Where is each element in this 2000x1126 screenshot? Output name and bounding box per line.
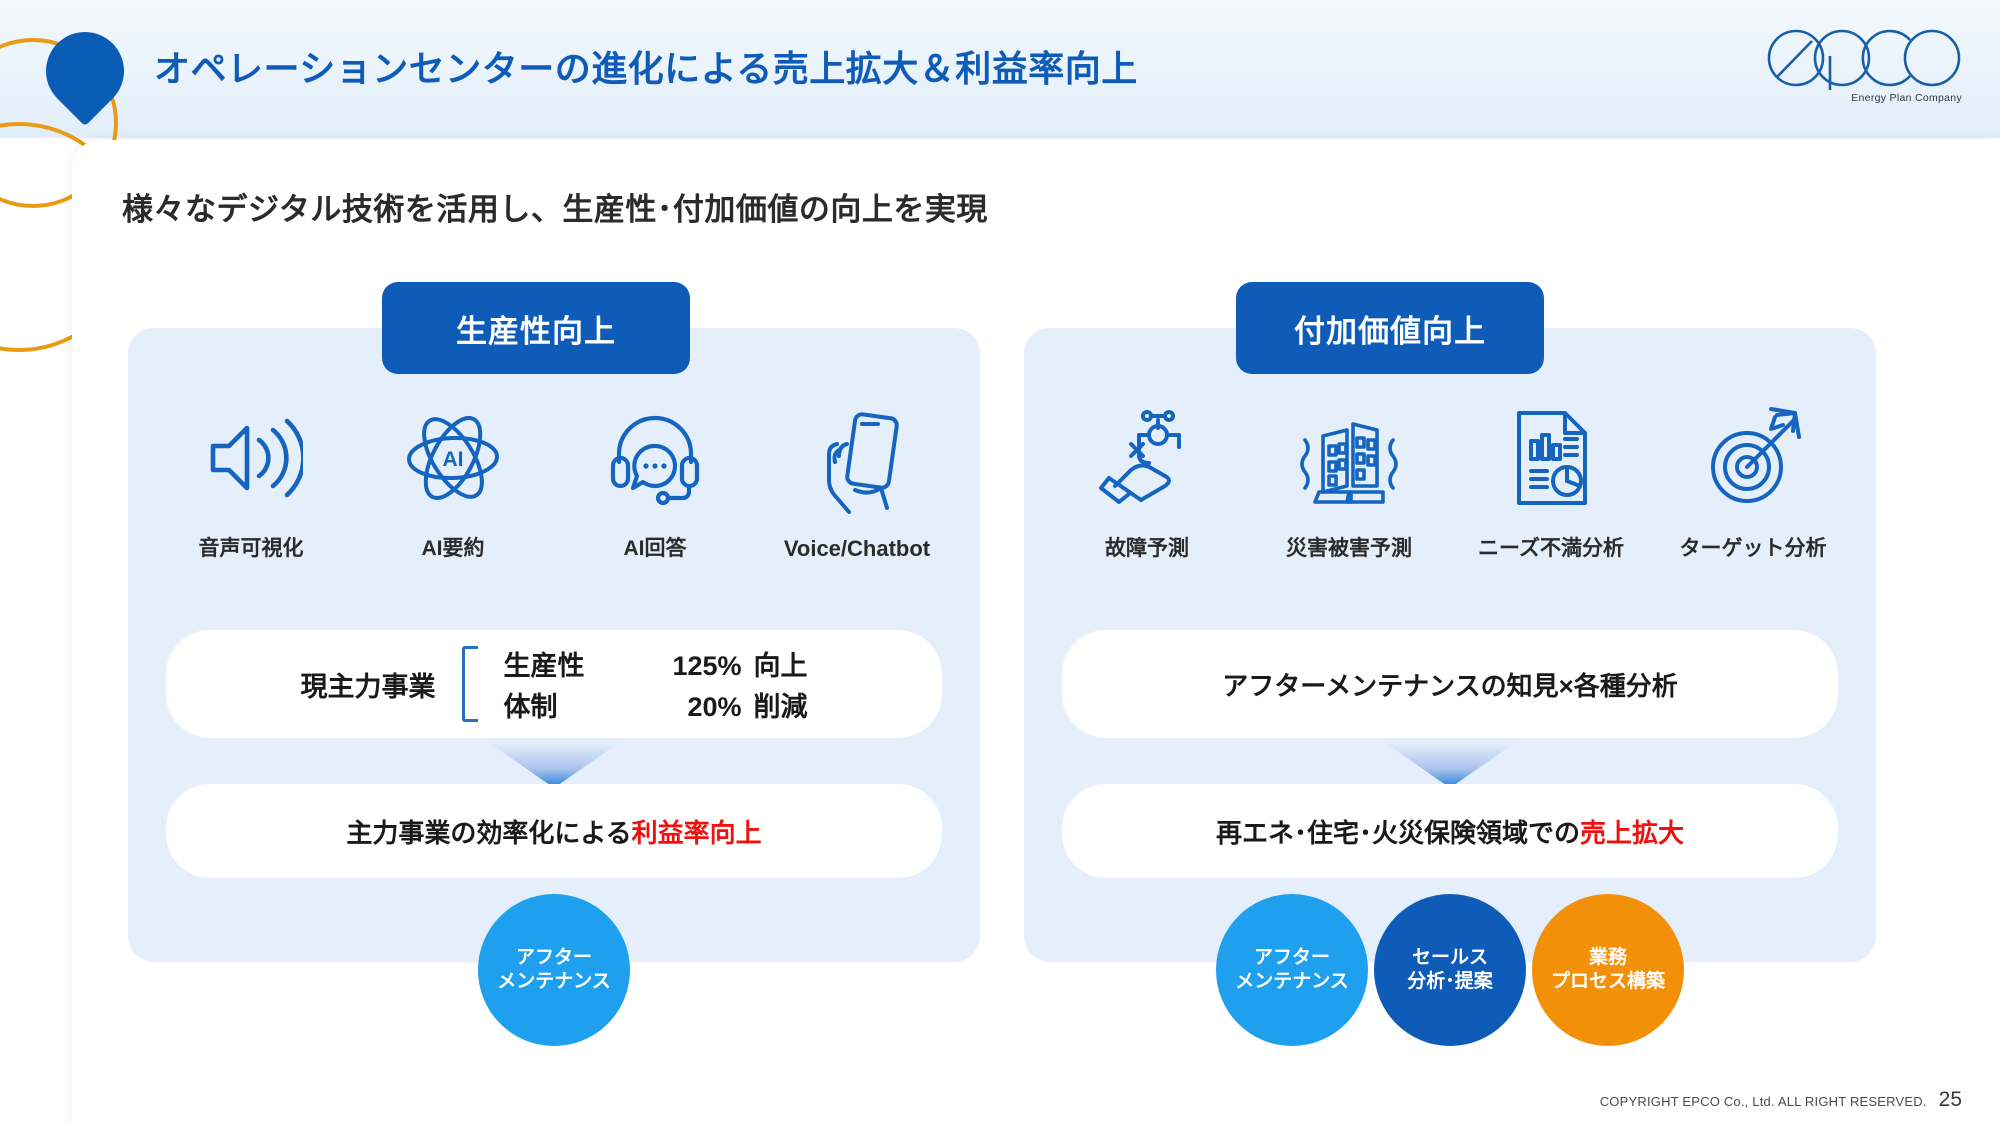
slide-root: オペレーションセンターの進化による売上拡大＆利益率向上 Energy Plan … <box>0 0 2000 1126</box>
icon-cell-failure-prediction[interactable]: 故障予測 <box>1049 404 1245 562</box>
footer: COPYRIGHT EPCO Co., Ltd. ALL RIGHT RESER… <box>1600 1088 1962 1112</box>
stat-pill-knowledge: アフターメンテナンスの知見×各種分析 <box>1062 630 1838 738</box>
circle-line2: 分析･提案 <box>1407 970 1493 994</box>
result-pill-profit: 主力事業の効率化による利益率向上 <box>166 784 942 878</box>
stat-text: アフターメンテナンスの知見×各種分析 <box>1222 666 1678 703</box>
panel-badge-productivity: 生産性向上 <box>382 282 690 374</box>
icon-cell-target-analysis[interactable]: ターゲット分析 <box>1655 404 1851 562</box>
svg-text:AI: AI <box>443 448 464 471</box>
down-arrow-icon <box>488 742 620 788</box>
circle-row-added-value: アフター メンテナンス セールス 分析･提案 業務 プロセス構築 <box>1024 894 1876 1046</box>
icon-row-productivity: 音声可視化 AI AI要約 <box>128 404 980 562</box>
icon-label: ターゲット分析 <box>1680 532 1827 562</box>
result-pill-sales: 再エネ･住宅･火災保険領域での売上拡大 <box>1062 784 1838 878</box>
icon-cell-ai-summary[interactable]: AI AI要約 <box>355 404 551 562</box>
speaker-waves-icon <box>199 404 303 512</box>
circle-line2: メンテナンス <box>497 970 611 994</box>
stat-row: 生産性 125% 向上 <box>504 644 808 683</box>
logo-tagline: Energy Plan Company <box>1851 92 1962 104</box>
stat-key: 体制 <box>504 685 622 724</box>
lead-text: 様々なデジタル技術を活用し、生産性･付加価値の向上を実現 <box>122 184 988 229</box>
icon-cell-needs-analysis[interactable]: ニーズ不満分析 <box>1453 404 1649 562</box>
document-chart-icon <box>1503 404 1599 512</box>
shaking-buildings-icon <box>1293 404 1405 512</box>
circle-line2: プロセス構築 <box>1551 970 1665 994</box>
icon-cell-voice-visualization[interactable]: 音声可視化 <box>153 404 349 562</box>
circle-line1: アフター <box>516 946 592 970</box>
stat-label: 現主力事業 <box>301 665 436 704</box>
stat-key: 生産性 <box>504 644 622 683</box>
down-arrow-icon <box>1384 742 1516 788</box>
icon-label: 故障予測 <box>1105 532 1189 562</box>
circle-after-maintenance[interactable]: アフター メンテナンス <box>1216 894 1368 1046</box>
target-arrow-icon <box>1701 404 1805 512</box>
icon-label: 災害被害予測 <box>1286 532 1412 562</box>
panel-productivity: 生産性向上 音声可視化 <box>128 328 980 962</box>
result-prefix: 再エネ･住宅･火災保険領域での <box>1216 818 1580 848</box>
copyright-text: COPYRIGHT EPCO Co., Ltd. ALL RIGHT RESER… <box>1600 1094 1927 1109</box>
icon-cell-voice-chatbot[interactable]: Voice/Chatbot <box>759 408 955 562</box>
circle-line2: メンテナンス <box>1235 970 1349 994</box>
stat-value: 20% <box>622 692 754 723</box>
page-number: 25 <box>1939 1088 1962 1112</box>
icon-cell-disaster-prediction[interactable]: 災害被害予測 <box>1251 404 1447 562</box>
stat-unit: 向上 <box>754 644 808 683</box>
stat-value: 125% <box>622 651 754 682</box>
epco-logo: Energy Plan Company <box>1760 28 1966 106</box>
icon-label: AI回答 <box>624 532 687 562</box>
epco-logo-icon <box>1760 28 1966 90</box>
result-highlight: 売上拡大 <box>1580 818 1684 848</box>
icon-label: AI要約 <box>422 532 485 562</box>
bracket-icon <box>462 646 478 722</box>
circle-line1: 業務 <box>1589 946 1627 970</box>
circle-line1: アフター <box>1254 946 1330 970</box>
circle-after-maintenance[interactable]: アフター メンテナンス <box>478 894 630 1046</box>
circle-sales-analysis[interactable]: セールス 分析･提案 <box>1374 894 1526 1046</box>
faucet-hand-icon <box>1095 404 1199 512</box>
content-card: 様々なデジタル技術を活用し、生産性･付加価値の向上を実現 生産性向上 音声可視化 <box>72 140 2000 1126</box>
hand-phone-icon <box>807 408 907 516</box>
circle-line1: セールス <box>1412 946 1488 970</box>
stat-pill-current-business: 現主力事業 生産性 125% 向上 体制 20% 削減 <box>166 630 942 738</box>
icon-cell-ai-answer[interactable]: AI回答 <box>557 404 753 562</box>
panel-badge-added-value: 付加価値向上 <box>1236 282 1544 374</box>
panel-added-value: 付加価値向上 <box>1024 328 1876 962</box>
circle-process-building[interactable]: 業務 プロセス構築 <box>1532 894 1684 1046</box>
icon-label: Voice/Chatbot <box>784 536 930 562</box>
result-highlight: 利益率向上 <box>632 818 762 848</box>
ai-atom-icon: AI <box>401 404 505 512</box>
icon-label: 音声可視化 <box>199 532 304 562</box>
stat-unit: 削減 <box>754 685 808 724</box>
page-title: オペレーションセンターの進化による売上拡大＆利益率向上 <box>154 40 1138 92</box>
icon-label: ニーズ不満分析 <box>1478 532 1624 562</box>
result-prefix: 主力事業の効率化による <box>346 818 631 848</box>
headset-chat-icon <box>603 404 707 512</box>
stat-row: 体制 20% 削減 <box>504 685 808 724</box>
icon-row-added-value: 故障予測 <box>1024 404 1876 562</box>
circle-row-productivity: アフター メンテナンス <box>128 894 980 1046</box>
